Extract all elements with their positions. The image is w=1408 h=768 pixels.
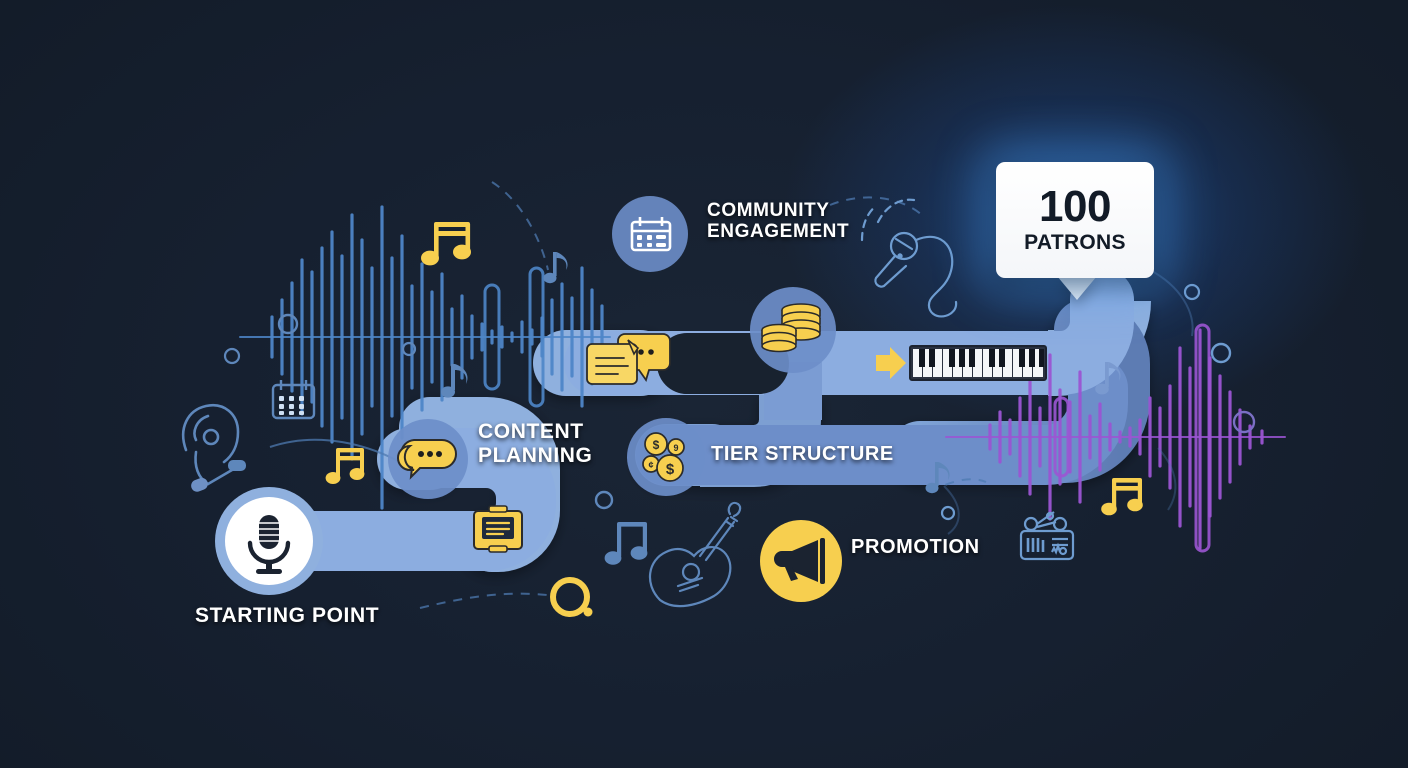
node-tier-structure[interactable]: $ 9 ¢ $: [627, 418, 705, 496]
goal-callout[interactable]: 100 PATRONS: [996, 162, 1154, 278]
node-content-planning[interactable]: [388, 419, 468, 499]
svg-text:$: $: [653, 438, 660, 452]
piano-keyboard-icon: [910, 346, 1046, 380]
svg-text:$: $: [666, 461, 675, 478]
node-starting-point[interactable]: [215, 487, 323, 595]
label-tier-structure: TIER STRUCTURE: [711, 443, 894, 465]
callout-label: PATRONS: [1024, 231, 1126, 255]
node-promotion[interactable]: [760, 520, 842, 602]
handheld-microphone-icon: [862, 200, 956, 317]
calendar-icon: [273, 380, 314, 418]
infographic-canvas: $ 9 ¢ $: [0, 0, 1408, 768]
diagram-svg: $ 9 ¢ $: [0, 0, 1408, 768]
svg-text:9: 9: [673, 443, 678, 453]
svg-text:¢: ¢: [648, 460, 653, 470]
node-monetization-stack[interactable]: [750, 287, 836, 373]
label-starting-point: STARTING POINT: [195, 604, 379, 628]
document-notes-icon: [474, 506, 522, 552]
node-community-engagement[interactable]: [612, 196, 688, 272]
mixer-board-icon: [1021, 512, 1073, 559]
label-promotion: PROMOTION: [851, 536, 980, 558]
callout-pointer: [1057, 276, 1097, 300]
callout-value: 100: [1039, 185, 1111, 228]
headset-icon: [183, 405, 246, 493]
label-content-planning: CONTENT PLANNING: [478, 420, 592, 467]
acoustic-guitar-icon: [650, 503, 740, 606]
label-community-engagement: COMMUNITY ENGAGEMENT: [707, 200, 849, 243]
